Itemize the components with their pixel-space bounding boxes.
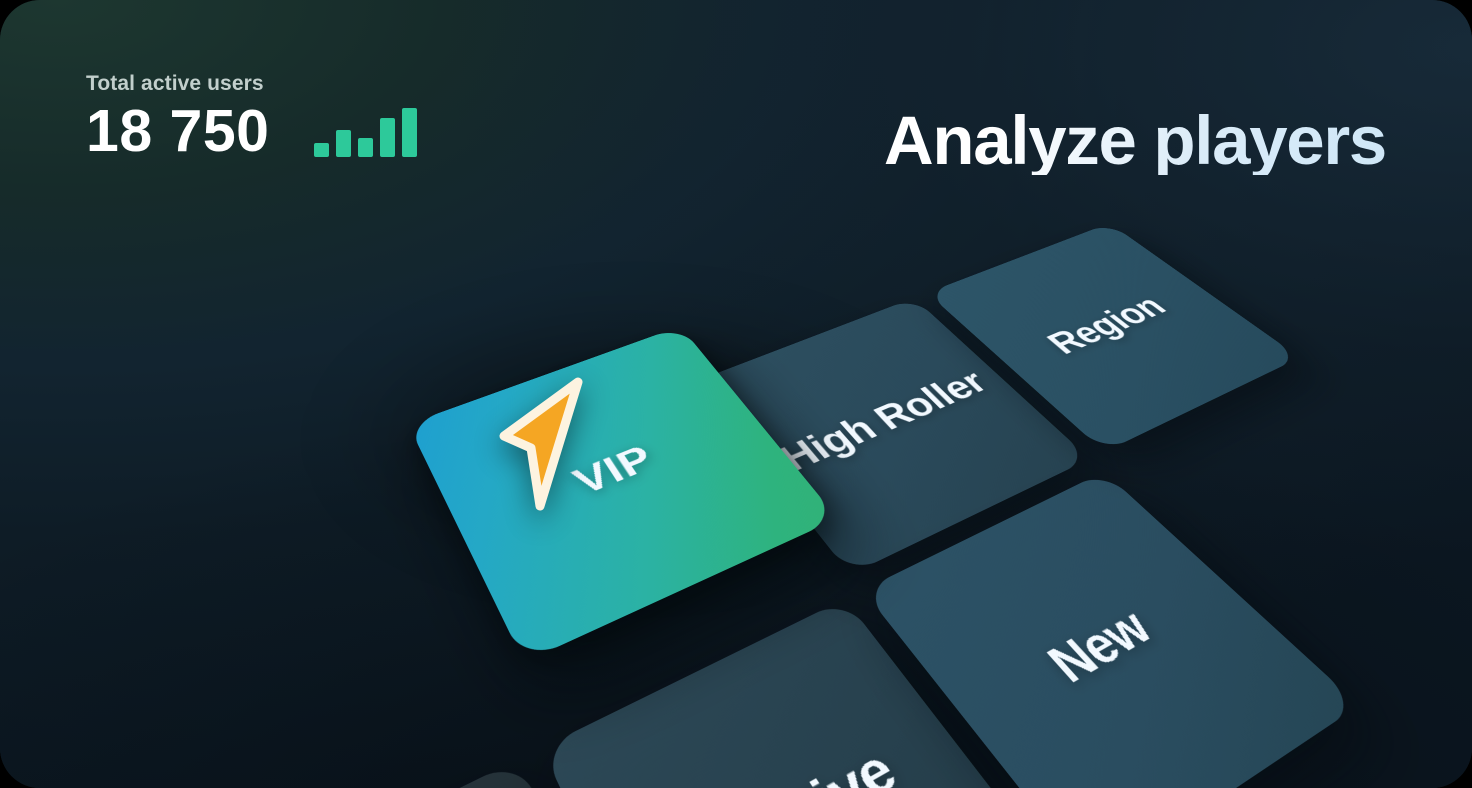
segment-tile-label: Region	[1038, 290, 1175, 361]
bar-chart-icon	[314, 101, 417, 161]
segment-tile-label: High Roller	[771, 363, 997, 479]
bar-chart-bar	[380, 118, 395, 157]
bar-chart-bar	[402, 108, 417, 157]
segment-tile-region[interactable]: Region	[927, 223, 1300, 452]
board-plane: VIPCasualInactiveHigh RollerNewRegion	[126, 260, 1425, 788]
kpi-value: 18 750	[86, 102, 269, 161]
hero-canvas: Total active users 18 750 Analyze player…	[0, 0, 1472, 788]
kpi-value-row: 18 750	[86, 101, 417, 161]
segment-tile-label: New	[1035, 599, 1165, 695]
kpi-block: Total active users 18 750	[86, 72, 417, 161]
bar-chart-bar	[358, 138, 373, 157]
page-title: Analyze players	[884, 106, 1386, 175]
bar-chart-bar	[336, 130, 351, 157]
bar-chart-bar	[314, 143, 329, 157]
kpi-label: Total active users	[86, 72, 417, 95]
segment-tile-label: Inactive	[676, 737, 909, 788]
segment-tile-label: VIP	[566, 437, 663, 503]
segment-tile-inactive[interactable]: Inactive	[541, 599, 1074, 788]
